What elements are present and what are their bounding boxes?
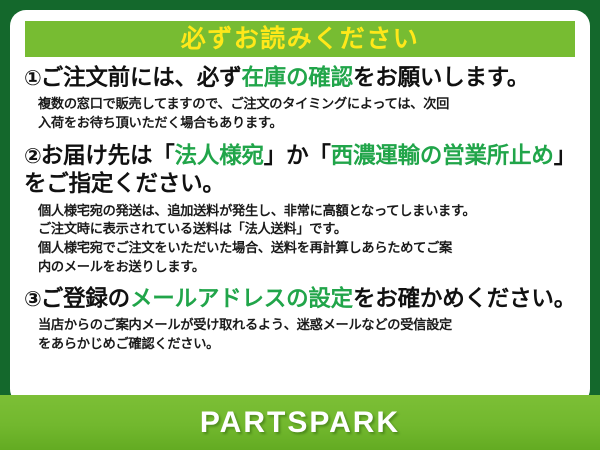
- notice-item-3-heading-after: をお確かめください。: [353, 286, 576, 311]
- notice-item-2-detail: 個人様宅宛の発送は、追加送料が発生し、非常に高額となってしまいます。 ご注文時に…: [38, 202, 578, 277]
- notice-item-3-heading-before: ご登録の: [41, 286, 130, 311]
- notice-item-2-heading-before: お届け先は「: [41, 143, 175, 168]
- notice-footer-bar: PARTSPARK: [0, 395, 600, 450]
- notice-header-bar: 必ずお読みください: [25, 21, 575, 57]
- notice-item-3: ③ご登録のメールアドレスの設定をお確かめください。 当店からのご案内メールが受け…: [24, 285, 578, 354]
- notice-item-2-number: ②: [24, 145, 41, 168]
- notice-item-1-heading-before: ご注文前には、必ず: [41, 65, 242, 90]
- notice-item-2-heading-middle: 」か「: [264, 143, 331, 168]
- notice-item-1-heading-highlight: 在庫の確認: [241, 65, 353, 90]
- notice-item-1-detail: 複数の窓口で販売してますので、ご注文のタイミングによっては、次回 入荷をお待ち頂…: [38, 95, 578, 132]
- notice-item-2-heading: ②お届け先は「法人様宛」か「西濃運輸の営業所止め」をご指定ください。: [24, 142, 578, 199]
- notice-item-1-heading-after: をお願いします。: [353, 65, 529, 90]
- notice-item-2: ②お届け先は「法人様宛」か「西濃運輸の営業所止め」をご指定ください。 個人様宅宛…: [24, 142, 578, 277]
- notice-item-1-heading: ①ご注文前には、必ず在庫の確認をお願いします。: [24, 64, 578, 92]
- notice-item-1: ①ご注文前には、必ず在庫の確認をお願いします。 複数の窓口で販売してますので、ご…: [24, 64, 578, 133]
- notice-item-3-heading-highlight: メールアドレスの設定: [130, 286, 353, 311]
- notice-header-title: 必ずお読みください: [181, 27, 420, 52]
- notice-item-2-heading-highlight: 法人様宛: [175, 143, 264, 168]
- notice-item-3-heading: ③ご登録のメールアドレスの設定をお確かめください。: [24, 285, 578, 313]
- brand-logo: PARTSPARK: [200, 406, 400, 440]
- notice-item-2-heading-highlight-2: 西濃運輸の営業所止め: [331, 143, 554, 168]
- notice-item-3-number: ③: [24, 288, 41, 311]
- notice-body: ①ご注文前には、必ず在庫の確認をお願いします。 複数の窓口で販売してますので、ご…: [10, 64, 590, 354]
- notice-item-3-detail: 当店からのご案内メールが受け取れるよう、迷惑メールなどの受信設定 をあらかじめご…: [38, 316, 578, 353]
- notice-item-1-number: ①: [24, 67, 41, 90]
- notice-panel: 必ずお読みください ①ご注文前には、必ず在庫の確認をお願いします。 複数の窓口で…: [10, 10, 590, 405]
- notice-frame: 必ずお読みください ①ご注文前には、必ず在庫の確認をお願いします。 複数の窓口で…: [0, 0, 600, 450]
